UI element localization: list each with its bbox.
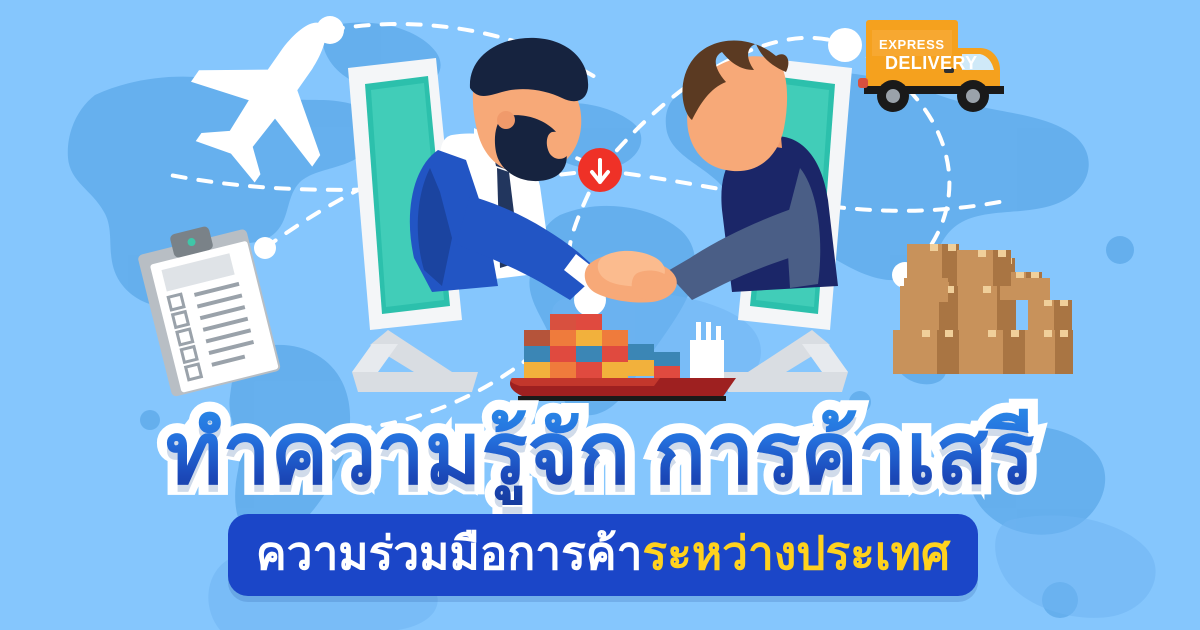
poster-canvas: EXPRESS DELIVERY ทำความรู้จัก การค้าเสรี… — [0, 0, 1200, 630]
truck-taillight — [858, 78, 868, 88]
page-title: ทำความรู้จัก การค้าเสรี ทำความรู้จัก การ… — [0, 404, 1200, 505]
page-title-fill: ทำความรู้จัก การค้าเสรี — [0, 404, 1200, 505]
subtitle-yellow-text: ระหว่างประเทศ — [642, 527, 950, 579]
subtitle-white-text: ความร่วมมือการค้า — [256, 527, 643, 579]
truck-delivery-label: DELIVERY — [885, 53, 978, 73]
subtitle-banner: ความร่วมมือการค้าระหว่างประเทศ — [228, 514, 978, 596]
truck-express-label: EXPRESS — [879, 37, 945, 52]
